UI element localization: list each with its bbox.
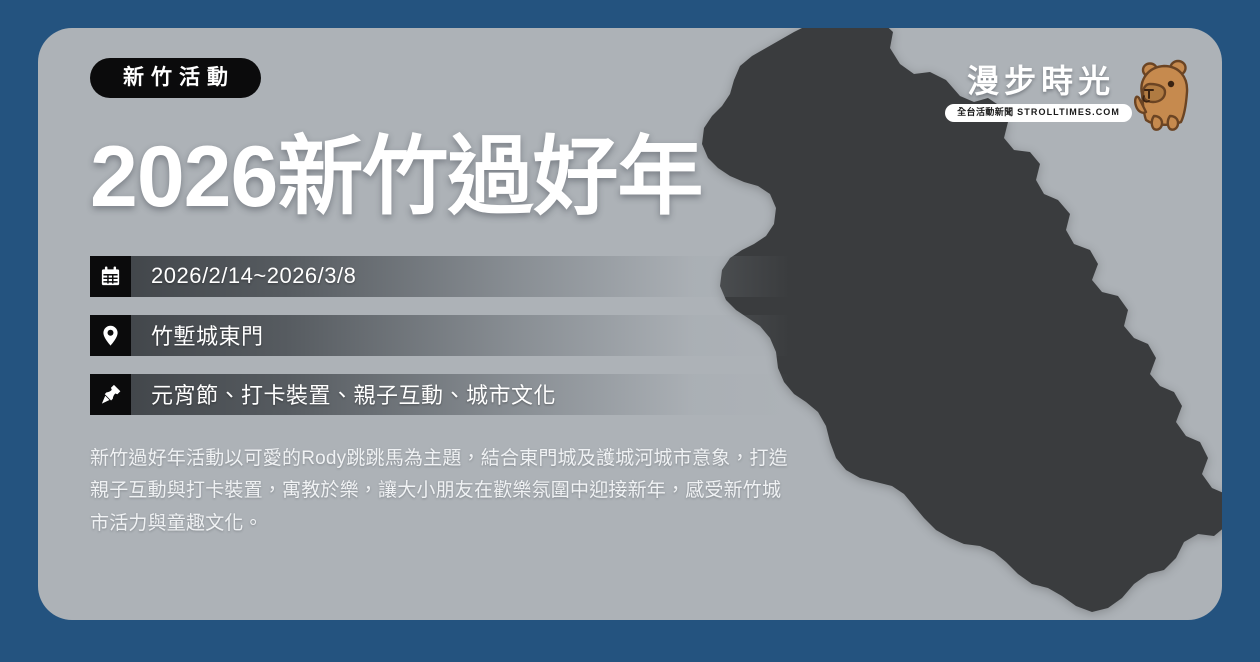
event-description: 新竹過好年活動以可愛的Rody跳跳馬為主題，結合東門城及護城河城市意象，打造親子… (90, 443, 790, 541)
info-text-tags: 元宵節、打卡裝置、親子互動、城市文化 (131, 374, 556, 415)
poster-canvas: 漫步時光 全台活動新聞 STROLLTIMES.COM (0, 0, 1260, 662)
page-title: 2026新竹過好年 (90, 134, 870, 222)
info-text-date: 2026/2/14~2026/3/8 (131, 256, 356, 297)
pushpin-icon (90, 374, 131, 415)
info-row-location: 竹塹城東門 (90, 315, 790, 356)
brand-logo: 漫步時光 全台活動新聞 STROLLTIMES.COM (945, 54, 1194, 132)
info-text-location: 竹塹城東門 (131, 315, 264, 356)
map-pin-icon (90, 315, 131, 356)
brand-url-badge: 全台活動新聞 STROLLTIMES.COM (945, 104, 1132, 121)
brand-text-group: 漫步時光 全台活動新聞 STROLLTIMES.COM (945, 64, 1132, 121)
brand-badge-cn: 全台活動新聞 (957, 107, 1013, 117)
info-row-tags: 元宵節、打卡裝置、親子互動、城市文化 (90, 374, 790, 415)
content-column: 新竹活動 2026新竹過好年 (90, 58, 870, 541)
capybara-mascot-icon (1134, 54, 1194, 132)
calendar-icon (90, 256, 131, 297)
event-card: 漫步時光 全台活動新聞 STROLLTIMES.COM (38, 28, 1222, 620)
category-badge: 新竹活動 (90, 58, 261, 98)
info-row-date: 2026/2/14~2026/3/8 (90, 256, 790, 297)
brand-badge-url: STROLLTIMES.COM (1017, 107, 1120, 117)
brand-name: 漫步時光 (962, 64, 1115, 99)
info-row-list: 2026/2/14~2026/3/8 竹塹城東門 (90, 256, 870, 415)
